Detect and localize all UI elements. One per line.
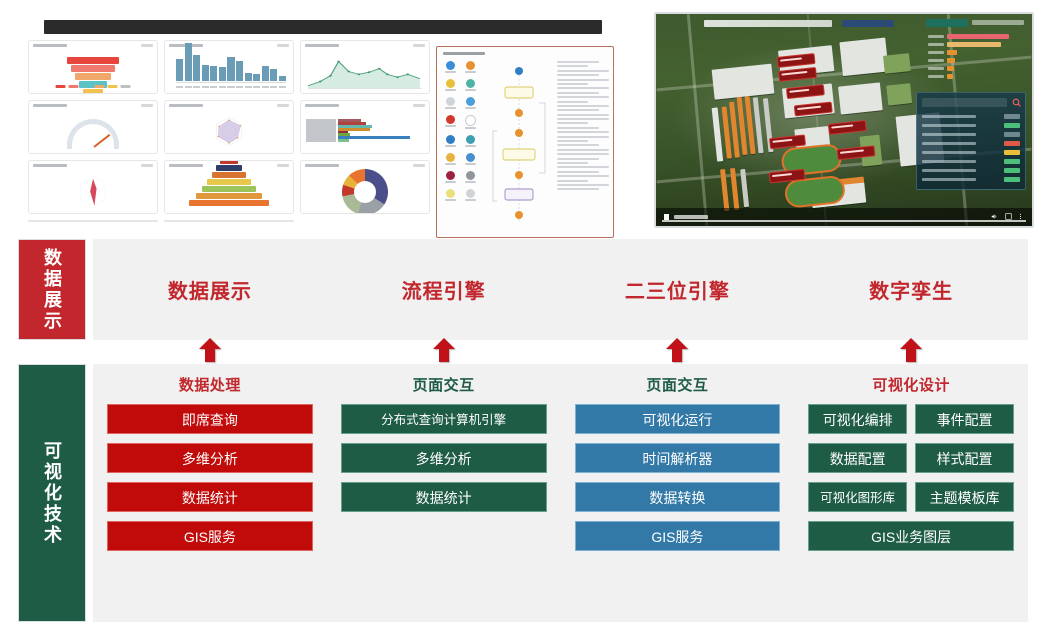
chart-card-gauge [28, 100, 158, 154]
chip-时间解析器[interactable]: 时间解析器 [575, 443, 781, 473]
display-col-4[interactable]: 数字孪生 [794, 275, 1028, 304]
chip-数据统计[interactable]: 数据统计 [341, 482, 547, 512]
display-col-3-label: 二三位引擎 [625, 281, 730, 303]
chip-row: 可视化图形库主题模板库 [808, 482, 1014, 512]
technology-column-3: 页面交互可视化运行时间解析器数据转换GIS服务 [561, 364, 795, 622]
chip-row: 可视化编排事件配置 [808, 404, 1014, 434]
chip-数据统计[interactable]: 数据统计 [107, 482, 313, 512]
radar-chart-red [32, 173, 154, 210]
chip-GIS业务图层[interactable]: GIS业务图层 [808, 521, 1014, 551]
band-label-text: 可视化技术 [43, 441, 61, 546]
technology-column-2: 页面交互分布式查询计算机引擎多维分析数据统计 [327, 364, 561, 622]
up-arrow-icon-3 [666, 338, 688, 362]
chip-row: 多维分析 [107, 443, 313, 473]
chart-card-multi-area [164, 220, 294, 222]
chip-row: 分布式查询计算机引擎 [341, 404, 547, 434]
video-platform-title [704, 20, 832, 27]
chart-card-donut [300, 160, 430, 214]
pyramid-chart [189, 160, 269, 207]
funnel-chart [67, 57, 119, 94]
video-search-input[interactable] [922, 98, 1007, 107]
display-col-1-label: 数据展示 [168, 281, 252, 303]
video-login-button[interactable] [926, 19, 968, 27]
chip-数据配置[interactable]: 数据配置 [808, 443, 907, 473]
flow-canvas [483, 61, 555, 231]
funnel-legend [56, 85, 131, 88]
chip-可视化编排[interactable]: 可视化编排 [808, 404, 907, 434]
chip-数据转换[interactable]: 数据转换 [575, 482, 781, 512]
video-timestamp [674, 215, 708, 219]
band-label-visualization-technology: 可视化技术 [18, 364, 86, 622]
data-display-panel: 数据展示 流程引擎 二三位引擎 数字孪生 [93, 239, 1028, 340]
search-icon[interactable] [1012, 98, 1021, 107]
chip-row: GIS服务 [107, 521, 313, 551]
chip-row: 时间解析器 [575, 443, 781, 473]
chip-即席查询[interactable]: 即席查询 [107, 404, 313, 434]
chip-row: 可视化运行 [575, 404, 781, 434]
data-display-band: 数据展示 数据展示 流程引擎 二三位引擎 数字孪生 [0, 236, 1051, 340]
display-col-2-label: 流程引擎 [402, 281, 486, 303]
band-label-text: 数据展示 [43, 248, 61, 332]
radar-chart-purple [168, 113, 290, 150]
chip-主题模板库[interactable]: 主题模板库 [915, 482, 1014, 512]
technology-columns: 数据处理即席查询多维分析数据统计GIS服务页面交互分布式查询计算机引擎多维分析数… [93, 364, 1028, 622]
chip-可视化图形库[interactable]: 可视化图形库 [808, 482, 907, 512]
dashboard-screenshot [14, 12, 602, 224]
chip-可视化运行[interactable]: 可视化运行 [575, 404, 781, 434]
more-options-icon[interactable] [1017, 213, 1024, 220]
chart-card-hbar [300, 100, 430, 154]
donut-chart [342, 169, 388, 215]
chip-row: 数据转换 [575, 482, 781, 512]
technology-column-1: 数据处理即席查询多维分析数据统计GIS服务 [93, 364, 327, 622]
video-device-list-panel[interactable] [916, 92, 1026, 190]
chart-card-single-bar [28, 220, 158, 222]
chip-row: GIS服务 [575, 521, 781, 551]
chart-card-radar-purple [164, 100, 294, 154]
video-breadcrumb-badge [842, 20, 894, 27]
chip-row: 数据配置样式配置 [808, 443, 1014, 473]
chip-事件配置[interactable]: 事件配置 [915, 404, 1014, 434]
up-arrow-icon-1 [199, 338, 221, 362]
hbar-labels [306, 119, 336, 142]
up-arrow-icon-2 [433, 338, 455, 362]
column-title-3: 页面交互 [575, 374, 781, 395]
band-label-data-display: 数据展示 [18, 239, 86, 340]
chip-row: 数据统计 [341, 482, 547, 512]
chip-row: 即席查询 [107, 404, 313, 434]
chart-card-radar-red [28, 160, 158, 214]
chip-row [341, 521, 547, 551]
gauge-chart [67, 119, 119, 149]
column-title-4: 可视化设计 [808, 374, 1014, 395]
chart-card-pyramid [164, 160, 294, 214]
column-title-2: 页面交互 [341, 374, 547, 395]
visualization-technology-band: 可视化技术 数据处理即席查询多维分析数据统计GIS服务页面交互分布式查询计算机引… [0, 364, 1051, 626]
hbar-chart [338, 119, 420, 142]
chip-row: 数据统计 [107, 482, 313, 512]
chip-GIS服务[interactable]: GIS服务 [107, 521, 313, 551]
bar-chart [176, 41, 286, 81]
chip-placeholder [341, 521, 547, 551]
flow-properties-table [557, 61, 609, 231]
chart-card-area-line [300, 40, 430, 94]
area-line-chart [304, 53, 426, 90]
chip-样式配置[interactable]: 样式配置 [915, 443, 1014, 473]
top-imagery-row [0, 0, 1051, 232]
dashboard-chart-grid [28, 40, 430, 222]
chart-card-bar [164, 40, 294, 94]
dashboard-titlebar [44, 20, 602, 34]
display-col-2[interactable]: 流程引擎 [327, 275, 561, 304]
chip-多维分析[interactable]: 多维分析 [341, 443, 547, 473]
video-datetime [972, 20, 1024, 25]
digital-twin-video-screenshot [654, 12, 1034, 228]
display-col-4-label: 数字孪生 [869, 281, 953, 303]
chip-分布式查询计算机引擎[interactable]: 分布式查询计算机引擎 [341, 404, 547, 434]
technology-column-4: 可视化设计可视化编排事件配置数据配置样式配置可视化图形库主题模板库GIS业务图层 [794, 364, 1028, 622]
video-progress-bar[interactable] [662, 220, 1026, 222]
flow-engine-screenshot [436, 46, 614, 238]
flow-header-bar [443, 52, 485, 55]
flow-node-palette [442, 61, 478, 231]
upward-arrows-row [93, 338, 1028, 364]
up-arrow-icon-4 [900, 338, 922, 362]
video-stats-legend [928, 34, 1024, 86]
fullscreen-icon[interactable] [1005, 213, 1012, 220]
chip-多维分析[interactable]: 多维分析 [107, 443, 313, 473]
chip-row: GIS业务图层 [808, 521, 1014, 551]
visualization-technology-panel: 数据处理即席查询多维分析数据统计GIS服务页面交互分布式查询计算机引擎多维分析数… [93, 364, 1028, 622]
chart-card-funnel [28, 40, 158, 94]
display-col-3[interactable]: 二三位引擎 [561, 275, 795, 304]
volume-icon[interactable] [991, 213, 998, 220]
chip-GIS服务[interactable]: GIS服务 [575, 521, 781, 551]
column-title-1: 数据处理 [107, 374, 313, 395]
display-col-1[interactable]: 数据展示 [93, 275, 327, 304]
video-control-bar[interactable] [656, 208, 1032, 226]
chip-row: 多维分析 [341, 443, 547, 473]
